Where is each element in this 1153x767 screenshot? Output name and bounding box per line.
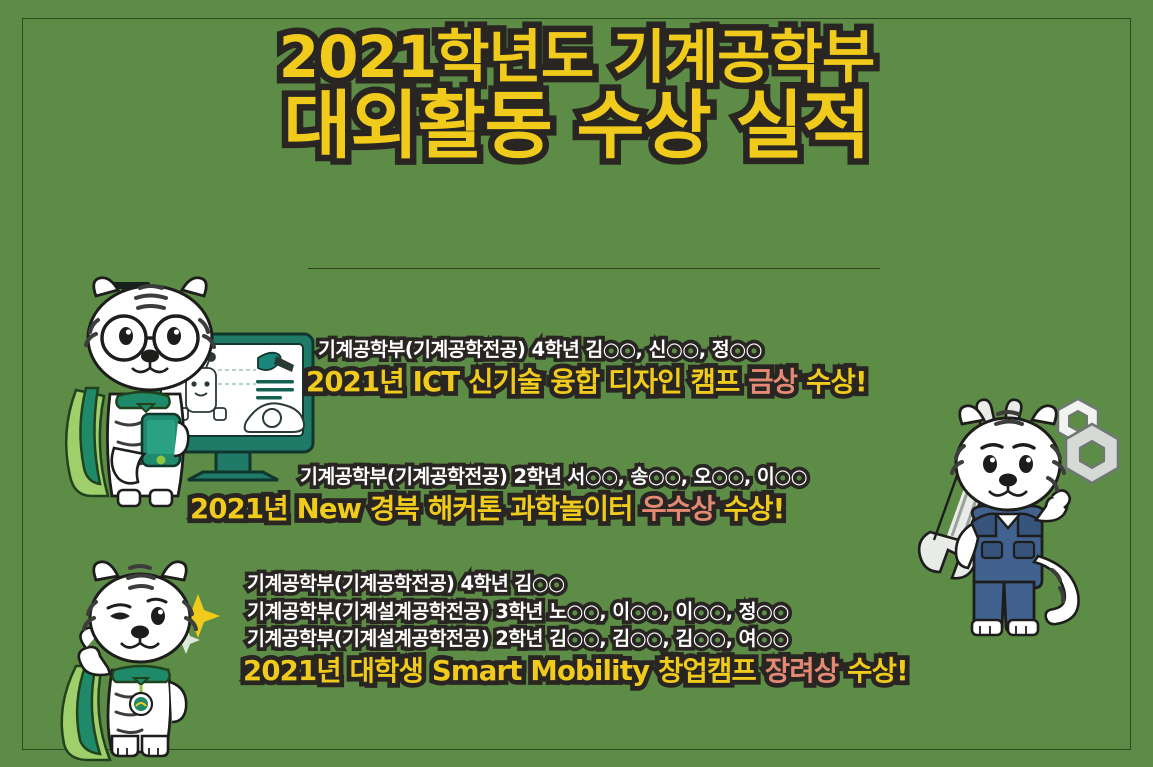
title-divider (308, 268, 880, 269)
entry-2-names-line-1: 기계공학부(기계공학전공) 2학년 서○○, 송○○, 오○○, 이○○ (300, 463, 807, 491)
entry-1-award-title: 2021년 ICT 신기술 융합 디자인 캠프 금상 수상! (306, 365, 867, 401)
entry-1-award-prefix: 2021년 ICT 신기술 융합 디자인 캠프 (306, 366, 748, 398)
page-title: 2021학년도 기계공학부 대외활동 수상 실적 (0, 28, 1153, 165)
entry-1-award-suffix: 수상! (797, 366, 867, 398)
entry-1-award-prize: 금상 (748, 366, 797, 398)
entry-3-names-line-3: 기계공학부(기계설계공학전공) 2학년 김○○, 김○○, 김○○, 여○○ (247, 625, 908, 653)
award-entry-3: 기계공학부(기계공학전공) 4학년 김○○ 기계공학부(기계설계공학전공) 3학… (247, 570, 908, 690)
page-title-line-2: 대외활동 수상 실적 (283, 89, 869, 164)
entry-2-award-suffix: 수상! (715, 493, 785, 525)
tiger-with-medal-illustration (52, 558, 247, 758)
entry-2-award-title: 2021년 New 경북 해커톤 과학놀이터 우수상 수상! (190, 492, 807, 528)
tiger-mascot-medal (62, 562, 196, 760)
entry-3-award-title: 2021년 대학생 Smart Mobility 창업캠프 장려상 수상! (243, 654, 908, 690)
entry-3-award-prefix: 2021년 대학생 Smart Mobility 창업캠프 (243, 655, 765, 687)
award-entry-2: 기계공학부(기계공학전공) 2학년 서○○, 송○○, 오○○, 이○○ 202… (300, 463, 807, 527)
tiger-mechanic-illustration (900, 392, 1130, 637)
entry-3-award-prize: 장려상 (765, 655, 839, 687)
award-entry-1: 기계공학부(기계공학전공) 4학년 김○○, 신○○, 정○○ 2021년 IC… (318, 336, 867, 400)
entry-3-names-line-2: 기계공학부(기계설계공학전공) 3학년 노○○, 이○○, 이○○, 정○○ (247, 598, 908, 626)
entry-1-names-line-1: 기계공학부(기계공학전공) 4학년 김○○, 신○○, 정○○ (318, 336, 867, 364)
entry-2-award-prize: 우수상 (641, 493, 715, 525)
page-title-line-1: 2021학년도 기계공학부 (279, 28, 875, 87)
entry-3-names-line-1: 기계공학부(기계공학전공) 4학년 김○○ (247, 570, 908, 598)
entry-3-award-suffix: 수상! (838, 655, 908, 687)
entry-2-award-prefix: 2021년 New 경북 해커톤 과학놀이터 (190, 493, 641, 525)
